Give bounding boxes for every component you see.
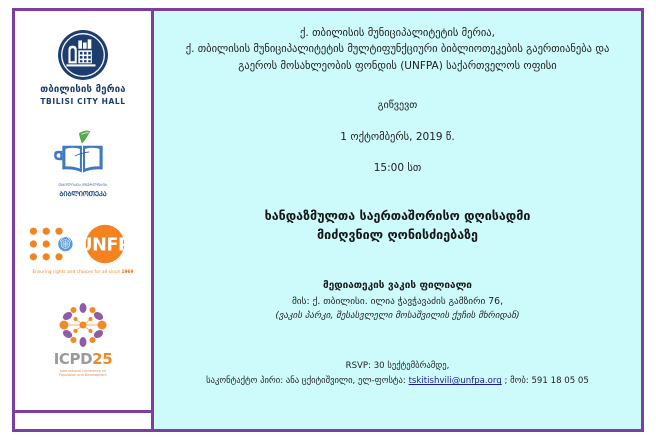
- invite-word: გიწვევთ: [176, 100, 619, 111]
- rsvp-phone-separator: ;: [505, 376, 508, 386]
- event-time: 15:00 სთ: [176, 162, 619, 174]
- logo-library: ᲗᲑᲘᲚᲘᲡᲘᲡ ᲛᲬᲔᲠᲚᲝᲑᲘᲡ ᲑᲘᲑᲚᲘᲝᲗᲔᲙᲐ: [17, 128, 149, 198]
- invitation-card: ქ. თბილისის მუნიციპალიტეტის მერია, ქ. თბ…: [0, 0, 656, 443]
- rsvp-contact-prefix: საკონტაქტო პირი: ანა ცქიტიშვილი, ელ-ფოსტ…: [206, 376, 406, 386]
- unfpa-tagline-text: Ensuring rights and choices for all sinc…: [32, 269, 121, 274]
- svg-text:UNFPA: UNFPA: [78, 235, 139, 255]
- venue-note: (ვაკის პარკი, შესასვლელი მოსაშვილის ქუჩი…: [176, 310, 619, 324]
- venue-block: მედიათეკის ვაკის ფილიალი მის: ქ. თბილისი…: [176, 278, 619, 324]
- icpd-wordmark-prefix: ICPD: [54, 350, 92, 368]
- organizers-block: ქ. თბილისის მუნიციპალიტეტის მერია, ქ. თბ…: [176, 25, 619, 74]
- logo-icpd25: ICPD25 International Conference on Popul…: [17, 300, 149, 378]
- unfpa-tagline: Ensuring rights and choices for all sinc…: [32, 269, 133, 274]
- library-name: ᲑᲘᲑᲚᲘᲝᲗᲔᲙᲐ: [59, 189, 106, 198]
- icpd25-flower-emblem-icon: [52, 300, 114, 350]
- invitation-content: ქ. თბილისის მუნიციპალიტეტის მერია, ქ. თბ…: [154, 11, 641, 399]
- event-title-line-1: ხანდაზმულთა საერთაშორისო დღისადმი: [176, 206, 619, 225]
- rsvp-phone-label: მობ:: [510, 376, 529, 386]
- event-date: 1 ოქტომბერს, 2019 წ.: [176, 131, 619, 143]
- organizer-line-3: გაეროს მოსახლეობის ფონდის (UNFPA) საქართ…: [176, 58, 619, 74]
- icpd-wordmark: ICPD25: [54, 352, 113, 367]
- library-caption: ᲗᲑᲘᲚᲘᲡᲘᲡ ᲛᲬᲔᲠᲚᲝᲑᲘᲡ: [59, 183, 108, 188]
- united-nations-emblem-icon: [57, 235, 74, 252]
- rsvp-deadline-line: RSVP: 30 სექტემბრამდე,: [176, 360, 619, 373]
- logo-unfpa: UNFPA Ensuring rights and choices for al…: [17, 224, 149, 274]
- rsvp-deadline: 30 სექტემბრამდე,: [374, 361, 450, 371]
- event-title: ხანდაზმულთა საერთაშორისო დღისადმი მიძღვნ…: [176, 206, 619, 245]
- city-hall-name-ka: თბილისის მერია: [40, 85, 126, 96]
- organizer-line-1: ქ. თბილისის მუნიციპალიტეტის მერია,: [176, 25, 619, 41]
- venue-name: მედიათეკის ვაკის ფილიალი: [176, 278, 619, 293]
- icpd-subtitle-line-2: Population and Development: [59, 373, 107, 378]
- city-hall-name-en: TBILISI CITY HALL: [40, 97, 125, 106]
- icpd-subtitle: International Conference on Population a…: [59, 369, 107, 378]
- rsvp-block: RSVP: 30 სექტემბრამდე, საკონტაქტო პირი: …: [176, 360, 619, 389]
- unfpa-tagline-year: 1969: [121, 269, 133, 274]
- open-book-cup-emblem-icon: [52, 128, 114, 180]
- content-panel: ქ. თბილისის მუნიციპალიტეტის მერია, ქ. თბ…: [151, 11, 641, 429]
- card-frame: ქ. თბილისის მუნიციპალიტეტის მერია, ქ. თბ…: [12, 8, 644, 432]
- rsvp-phone-number: 591 18 05 05: [531, 376, 588, 386]
- organizer-line-2: ქ. თბილისის მუნიციპალიტეტის მულტიფუნქციუ…: [176, 41, 619, 57]
- logo-city-hall: თბილისის მერია TBILISI CITY HALL: [17, 29, 149, 106]
- venue-address: მის: ქ. თბილისი. ილია ჭავჭავაძის გამზირი…: [176, 295, 619, 309]
- unfpa-logo-icon: UNFPA: [27, 224, 139, 264]
- icpd-wordmark-number: 25: [92, 350, 112, 368]
- logo-panel: თბილისის მერია TBILISI CITY HALL ᲗᲑᲘᲚᲘᲡᲘ…: [15, 11, 151, 413]
- tbilisi-city-hall-emblem-icon: [57, 29, 109, 81]
- rsvp-email-link[interactable]: tskitishvili@unfpa.org: [409, 376, 502, 386]
- event-title-line-2: მიძღვნილ ღონისძიებაზე: [176, 225, 619, 244]
- rsvp-label: RSVP:: [346, 361, 371, 371]
- rsvp-contact-line: საკონტაქტო პირი: ანა ცქიტიშვილი, ელ-ფოსტ…: [176, 375, 619, 388]
